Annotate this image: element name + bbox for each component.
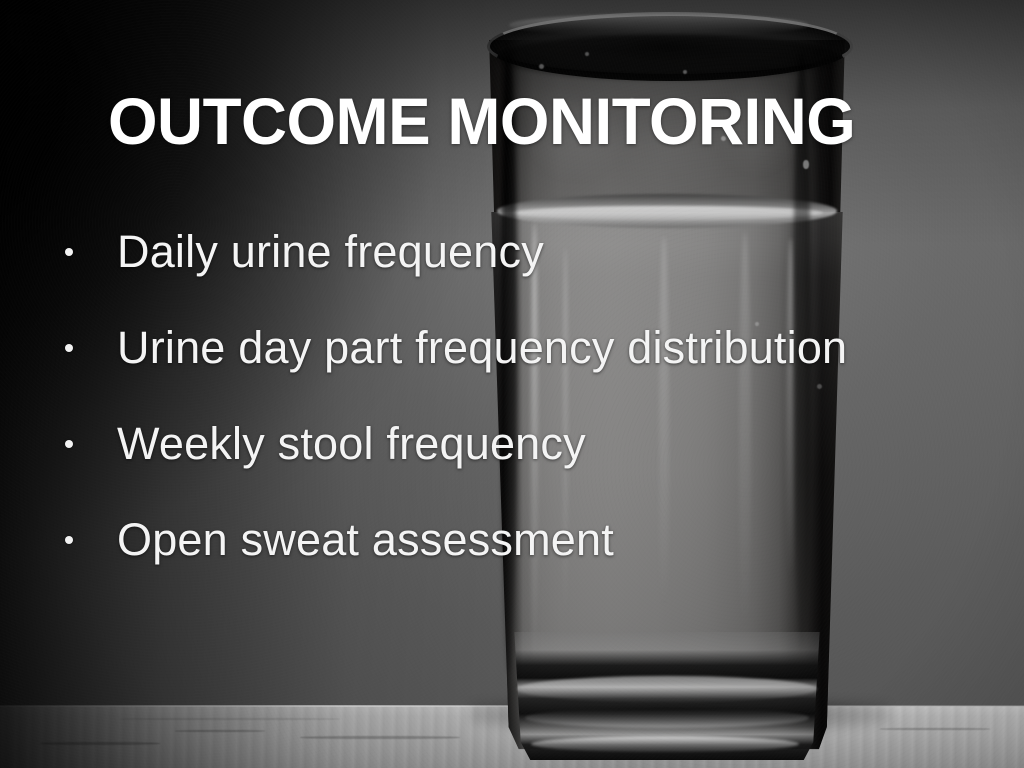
list-item: Daily urine frequency <box>0 204 1024 300</box>
bullet-dot-icon <box>65 536 73 544</box>
water-droplet <box>539 64 544 69</box>
glass-base-ring <box>525 708 809 728</box>
list-item-label: Weekly stool frequency <box>117 418 586 470</box>
list-item-label: Daily urine frequency <box>117 226 544 278</box>
list-item: Open sweat assessment <box>0 492 1024 588</box>
glass-rim-inner-shadow <box>495 34 839 80</box>
list-item: Urine day part frequency distribution <box>0 300 1024 396</box>
glass-rim-gloss <box>509 14 809 36</box>
water-droplet <box>803 160 809 169</box>
bullet-list: Daily urine frequency Urine day part fre… <box>0 204 1024 588</box>
table-scratch <box>300 736 460 739</box>
water-droplet <box>585 52 589 56</box>
list-item: Weekly stool frequency <box>0 396 1024 492</box>
bullet-dot-icon <box>65 344 73 352</box>
bullet-dot-icon <box>65 248 73 256</box>
table-scratch <box>120 718 340 720</box>
list-item-label: Urine day part frequency distribution <box>117 322 847 374</box>
bullet-dot-icon <box>65 440 73 448</box>
water-droplet <box>683 70 687 74</box>
page-title: OUTCOME MONITORING <box>108 86 909 156</box>
glass-base-ring <box>517 676 817 702</box>
table-scratch <box>175 730 265 732</box>
table-scratch <box>880 728 990 730</box>
glass-base-bottom-highlight <box>531 736 799 752</box>
presentation-slide: OUTCOME MONITORING Daily urine frequency… <box>0 0 1024 768</box>
table-scratch <box>40 742 160 745</box>
list-item-label: Open sweat assessment <box>117 514 614 566</box>
